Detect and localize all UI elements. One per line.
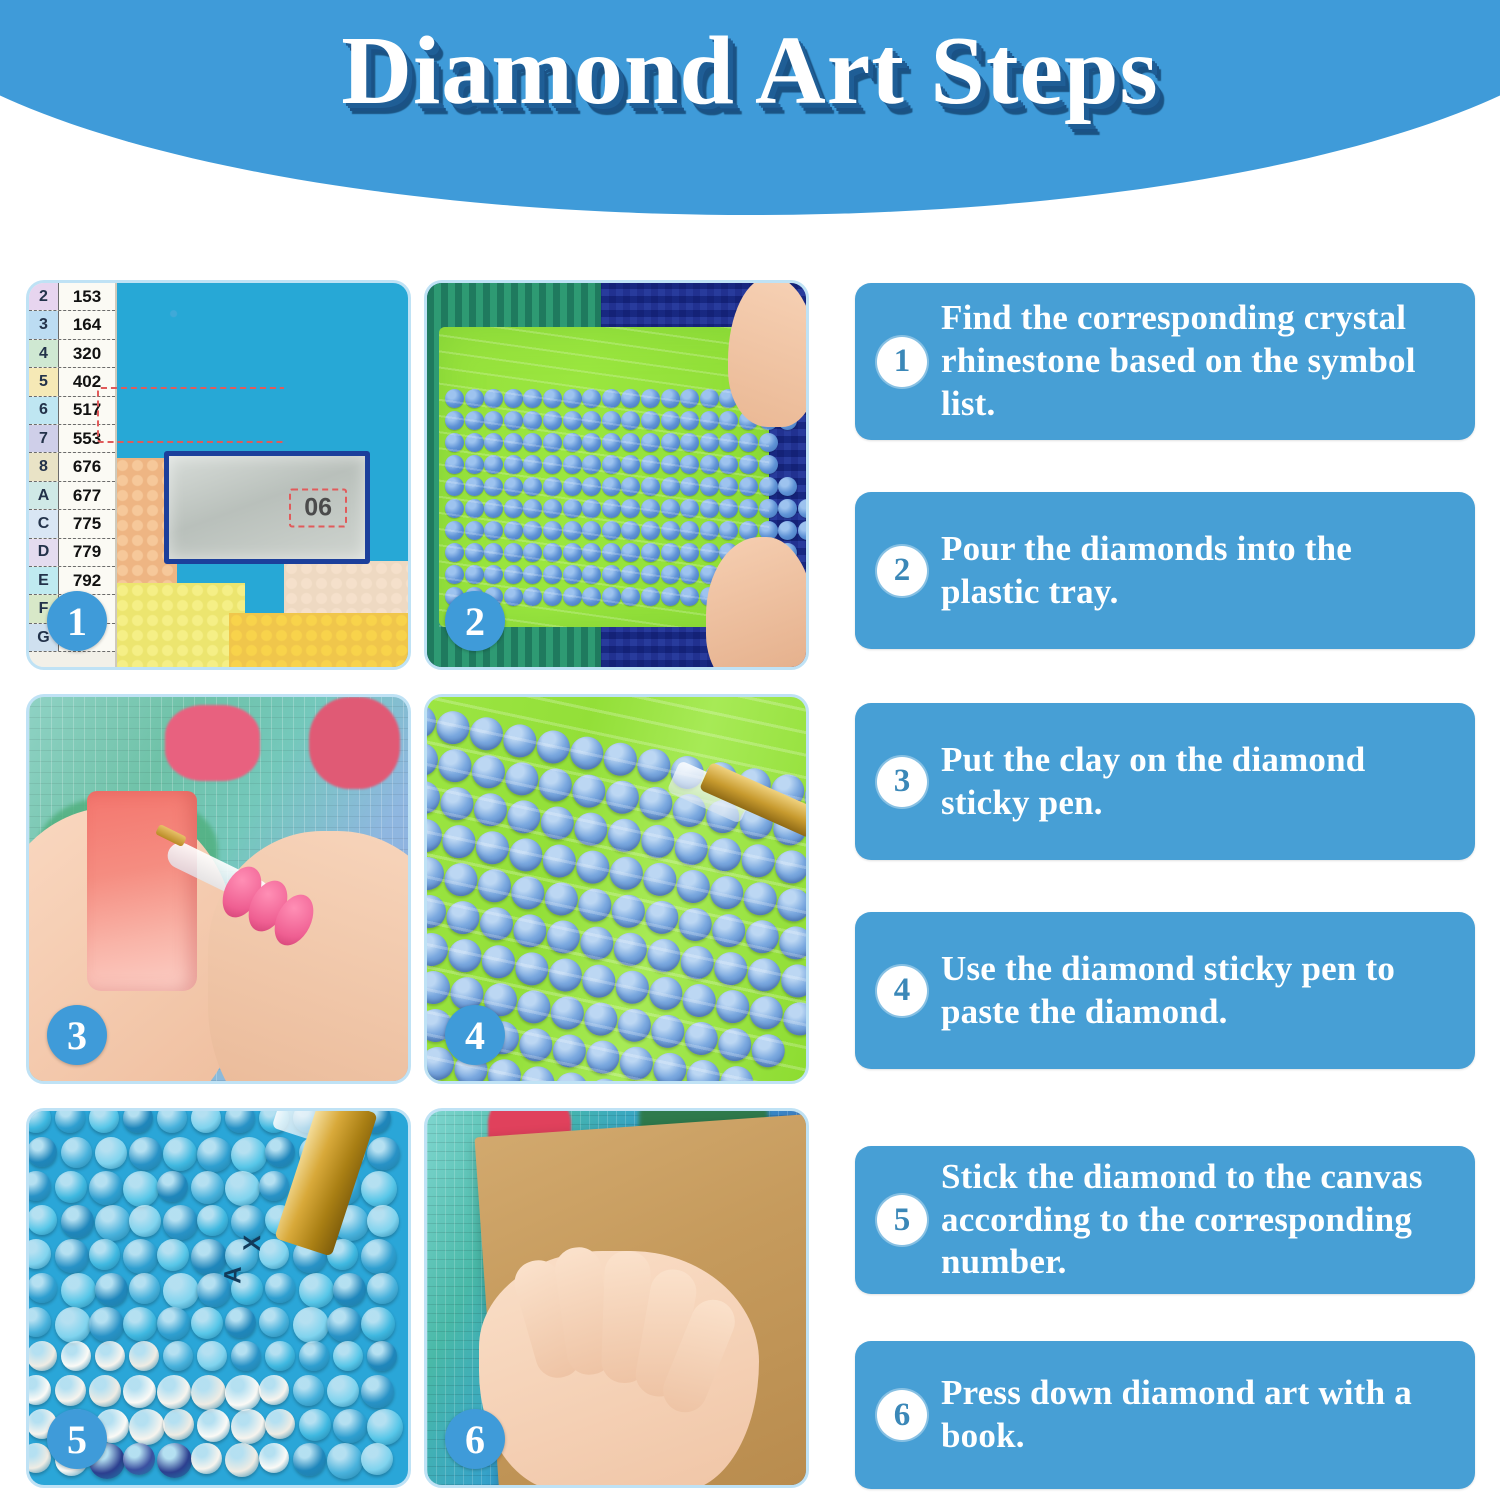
symbol-chart-row: 3164 (29, 311, 115, 339)
diamond (582, 587, 601, 606)
diamond (55, 1375, 86, 1406)
diamond (123, 1239, 158, 1274)
diamond (427, 893, 448, 930)
diamond (608, 855, 645, 892)
diamond (157, 1443, 192, 1478)
diamond (445, 389, 464, 408)
diamond (680, 565, 699, 584)
diamond (427, 817, 444, 854)
step-card-3[interactable]: 3 Put the clay on the diamond sticky pen… (855, 703, 1475, 860)
step-card-4[interactable]: 4 Use the diamond sticky pen to paste th… (855, 912, 1475, 1069)
bag-number-label: 06 (289, 488, 347, 527)
diamond (484, 565, 503, 584)
diamond (739, 477, 758, 496)
diamond (465, 411, 484, 430)
diamond (511, 912, 548, 949)
step-card-5[interactable]: 5 Stick the diamond to the canvas accord… (855, 1146, 1475, 1294)
diamond (618, 1045, 655, 1081)
step-text-3: Put the clay on the diamond sticky pen. (941, 739, 1449, 824)
diamond (572, 811, 609, 848)
diamond (123, 1171, 159, 1207)
diamond (163, 1273, 199, 1309)
diamond (259, 1307, 289, 1337)
diamond (578, 925, 615, 962)
diamond (61, 1341, 91, 1371)
diamond (197, 1205, 228, 1236)
diamond (661, 433, 680, 452)
diamond (505, 798, 542, 835)
diamond (574, 849, 611, 886)
diamond (563, 565, 582, 584)
diamond (259, 1171, 289, 1201)
diamond (543, 499, 562, 518)
diamond (95, 1273, 128, 1306)
diamond (445, 499, 464, 518)
diamond (299, 1273, 334, 1308)
diamond (719, 499, 738, 518)
diamond (680, 477, 699, 496)
diamond (299, 1341, 329, 1371)
diamond (465, 433, 484, 452)
diamond (437, 747, 474, 784)
diamond (551, 1032, 588, 1069)
diamond (476, 868, 513, 905)
diamond (708, 874, 745, 911)
diamond (191, 1443, 222, 1474)
diamond (327, 1307, 362, 1342)
diamond (779, 963, 806, 1000)
diamond (537, 766, 574, 803)
diamond (661, 521, 680, 540)
diamond (361, 1375, 394, 1408)
diamond (563, 411, 582, 430)
diamond (602, 741, 639, 778)
finger-top (728, 283, 806, 427)
diamond (333, 1409, 367, 1443)
diamond (225, 1307, 256, 1338)
diamond (718, 1064, 755, 1081)
diamond (621, 477, 640, 496)
diamond (293, 1375, 324, 1406)
symbol-chart-row: 8676 (29, 453, 115, 481)
diamond (641, 499, 660, 518)
diamond (484, 411, 503, 430)
diamond (123, 1307, 157, 1341)
diamond (265, 1137, 295, 1167)
diamond (602, 587, 621, 606)
diamond (677, 906, 714, 943)
diamond (504, 587, 523, 606)
diamond (361, 1443, 393, 1475)
diamond (361, 1239, 396, 1274)
diamond (635, 747, 672, 784)
code-cell: 676 (59, 453, 115, 480)
step-number-1: 1 (877, 337, 927, 387)
diamond (651, 1051, 688, 1081)
diamond (582, 1001, 619, 1038)
diamond (367, 1137, 400, 1170)
step-card-2[interactable]: 2 Pour the diamonds into the plastic tra… (855, 492, 1475, 649)
diamond (621, 587, 640, 606)
symbol-cell: A (29, 482, 59, 509)
canvas-gold-beads (229, 613, 408, 667)
diamond (641, 587, 660, 606)
diamond (759, 499, 778, 518)
diamond (367, 1409, 403, 1445)
diamond (700, 499, 719, 518)
diamond (231, 1409, 266, 1444)
diamond (465, 389, 484, 408)
symbol-cell: C (29, 510, 59, 537)
diamond (293, 1307, 329, 1343)
diamond-bag: 06 (164, 451, 370, 564)
symbol-chart-row: D779 (29, 539, 115, 567)
step-number-3: 3 (877, 757, 927, 807)
diamond (563, 521, 582, 540)
diamond (563, 455, 582, 474)
diamond (775, 887, 806, 924)
diamond (680, 499, 699, 518)
diamond (445, 543, 464, 562)
diamond (480, 944, 517, 981)
diamond (543, 521, 562, 540)
diamond (191, 1171, 224, 1204)
diamond (680, 389, 699, 408)
diamond (675, 868, 712, 905)
symbol-cell: 8 (29, 453, 59, 480)
symbol-cell: 2 (29, 283, 59, 310)
diamond (602, 543, 621, 562)
photo-panel-1[interactable]: 2153316443205402651775538676A677C775D779… (26, 280, 411, 670)
diamond (742, 880, 779, 917)
diamond (712, 950, 749, 987)
diamond (129, 1409, 165, 1445)
page-title: Diamond Art Steps (0, 20, 1500, 123)
diamond (427, 931, 450, 968)
diamond (509, 874, 546, 911)
diamond (333, 1273, 366, 1306)
photo-badge-2: 2 (445, 591, 505, 651)
photo-panel-3[interactable]: 3 (26, 694, 411, 1084)
diamond (443, 861, 480, 898)
diamond (547, 956, 584, 993)
diamond (465, 455, 484, 474)
diamond (706, 836, 743, 873)
diamond (157, 1375, 191, 1409)
diamond (259, 1443, 289, 1473)
diamond (661, 411, 680, 430)
diamond (543, 477, 562, 496)
diamond (582, 565, 601, 584)
diamond (543, 880, 580, 917)
step-text-5: Stick the diamond to the canvas accordin… (941, 1156, 1449, 1284)
diamond (259, 1375, 289, 1405)
diamond (612, 931, 649, 968)
photo-badge-4: 4 (445, 1005, 505, 1065)
diamond (661, 499, 680, 518)
diamond (584, 1039, 621, 1076)
photo-panel-5[interactable]: X A 5 (26, 1108, 411, 1488)
diamond (265, 1273, 295, 1303)
photo-panel-4[interactable]: 4 (424, 694, 809, 1084)
step-number-2: 2 (877, 546, 927, 596)
diamond (563, 499, 582, 518)
diamond (519, 1064, 556, 1081)
diamond (582, 521, 601, 540)
diamond (435, 709, 472, 746)
diamond (563, 389, 582, 408)
diamond (465, 477, 484, 496)
diamond (645, 937, 682, 974)
diamond (602, 433, 621, 452)
step-card-1[interactable]: 1 Find the corresponding crystal rhinest… (855, 283, 1475, 440)
diamond (680, 411, 699, 430)
code-cell: 677 (59, 482, 115, 509)
diamond (504, 477, 523, 496)
canvas-yellow-beads (115, 583, 245, 667)
diamond (641, 411, 660, 430)
diamond (89, 1239, 120, 1270)
diamond (641, 543, 660, 562)
symbol-cell: 6 (29, 397, 59, 424)
diamond (563, 433, 582, 452)
diamond (523, 587, 542, 606)
diamond (719, 477, 738, 496)
diamond (504, 499, 523, 518)
symbol-cell: 4 (29, 340, 59, 367)
diamond (447, 937, 484, 974)
diamond (523, 521, 542, 540)
diamond (553, 1070, 590, 1081)
diamond (225, 1375, 261, 1411)
diamond (474, 830, 511, 867)
symbol-cell: D (29, 539, 59, 566)
diamond (639, 823, 676, 860)
diamond (602, 389, 621, 408)
diamond (641, 389, 660, 408)
symbol-chart-row: A677 (29, 482, 115, 510)
diamond (157, 1171, 188, 1202)
symbol-cell: 3 (29, 311, 59, 338)
diamond (580, 963, 617, 1000)
diamond (501, 722, 538, 759)
diamond (367, 1273, 398, 1304)
diamond (661, 565, 680, 584)
code-cell: 164 (59, 311, 115, 338)
diamond (465, 521, 484, 540)
diamond (759, 477, 778, 496)
diamond (714, 988, 751, 1025)
diamond (680, 521, 699, 540)
diamond (700, 543, 719, 562)
diamond (710, 912, 747, 949)
step-text-1: Find the corresponding crystal rhineston… (941, 297, 1449, 425)
diamond (445, 433, 464, 452)
diamond (543, 411, 562, 430)
diamond (673, 830, 710, 867)
diamond (641, 861, 678, 898)
diamond (719, 455, 738, 474)
canvas-symbol-a: A (219, 1266, 248, 1284)
diamond (602, 499, 621, 518)
diamond (427, 779, 442, 816)
diamond (61, 1273, 96, 1308)
diamond (484, 499, 503, 518)
diamond (95, 1341, 125, 1371)
diamond (614, 969, 651, 1006)
diamond (55, 1239, 89, 1273)
diamond (484, 389, 503, 408)
symbol-cell: 5 (29, 368, 59, 395)
diamond (504, 543, 523, 562)
diamond (744, 918, 781, 955)
diamond (157, 1239, 189, 1271)
diamond (621, 543, 640, 562)
diamond (327, 1443, 363, 1479)
diamond (740, 842, 777, 879)
diamond (586, 1077, 623, 1081)
diamond (539, 804, 576, 841)
diamond (716, 1026, 753, 1063)
canvas-pink-flower-2 (309, 697, 400, 789)
diamond (535, 728, 572, 765)
diamond (568, 735, 605, 772)
diamond (445, 455, 464, 474)
diamond (484, 455, 503, 474)
diamond (129, 1341, 159, 1371)
photo-badge-5: 5 (47, 1409, 107, 1469)
photo-badge-3: 3 (47, 1005, 107, 1065)
diamond (739, 455, 758, 474)
diamond (661, 587, 680, 606)
diamond (367, 1341, 397, 1371)
diamond (621, 499, 640, 518)
diamond (616, 1007, 653, 1044)
diamond (641, 477, 660, 496)
canvas-symbol-x: X (239, 1235, 268, 1252)
symbol-cell: E (29, 567, 59, 594)
diamond (681, 982, 718, 1019)
diamond (641, 455, 660, 474)
diamond (513, 950, 550, 987)
diamond (55, 1307, 91, 1343)
diamond (748, 994, 785, 1031)
diamond (504, 565, 523, 584)
diamond (439, 785, 476, 822)
photo-panel-6[interactable]: 6 (424, 1108, 809, 1488)
diamond (746, 956, 783, 993)
diamond (523, 499, 542, 518)
diamond (661, 543, 680, 562)
diamond (293, 1443, 326, 1476)
diamond (602, 411, 621, 430)
diamond (427, 969, 452, 1006)
diamond (191, 1307, 223, 1339)
diamond (582, 433, 601, 452)
diamond (700, 389, 719, 408)
diamond (61, 1205, 94, 1238)
diamond (445, 477, 464, 496)
diamond (621, 433, 640, 452)
diamond (661, 455, 680, 474)
diamond (621, 565, 640, 584)
diamond (157, 1307, 190, 1340)
diamond (507, 836, 544, 873)
diamond (441, 823, 478, 860)
photo-badge-1: 1 (47, 591, 107, 651)
diamond (602, 455, 621, 474)
diamond (777, 925, 806, 962)
step-card-6[interactable]: 6 Press down diamond art with a book. (855, 1341, 1475, 1489)
diamond (478, 906, 515, 943)
step-text-4: Use the diamond sticky pen to paste the … (941, 948, 1449, 1033)
diamond (472, 792, 509, 829)
diamond (484, 477, 503, 496)
diamond (504, 455, 523, 474)
diamond (523, 389, 542, 408)
diamond (484, 521, 503, 540)
diamond (680, 543, 699, 562)
diamond (781, 1001, 806, 1038)
diamond (445, 899, 482, 936)
diamond (89, 1375, 121, 1407)
diamond (773, 849, 806, 886)
diamond (231, 1341, 261, 1371)
diamond (427, 703, 438, 740)
diamond (582, 477, 601, 496)
diamond (604, 779, 641, 816)
diamond (549, 994, 586, 1031)
diamond (700, 477, 719, 496)
diamond (563, 543, 582, 562)
diamond (361, 1171, 397, 1207)
diamond (563, 587, 582, 606)
symbol-chart-row: 4320 (29, 340, 115, 368)
photo-panel-2[interactable]: 2 (424, 280, 809, 670)
diamond (504, 389, 523, 408)
diamond (333, 1341, 363, 1371)
diamond (197, 1341, 227, 1371)
diamond (570, 773, 607, 810)
diamond (361, 1307, 395, 1341)
diamond (197, 1137, 232, 1172)
diamond (719, 521, 738, 540)
diamond (576, 887, 613, 924)
diamond (465, 499, 484, 518)
diamond (265, 1409, 295, 1439)
diamond (647, 975, 684, 1012)
diamond (484, 543, 503, 562)
diamond (129, 1205, 161, 1237)
diamond (602, 477, 621, 496)
diamond (545, 918, 582, 955)
diamond (515, 988, 552, 1025)
diamond (484, 433, 503, 452)
diamond (163, 1341, 193, 1371)
diamond (517, 1026, 554, 1063)
diamond (427, 855, 446, 892)
diamond (129, 1137, 162, 1170)
diamond (89, 1307, 124, 1342)
diamond (582, 411, 601, 430)
diamond (55, 1171, 87, 1203)
diamond (95, 1137, 127, 1169)
code-cell: 775 (59, 510, 115, 537)
diamond (163, 1409, 194, 1440)
diamond (327, 1375, 359, 1407)
diamond (299, 1409, 331, 1441)
code-cell: 320 (59, 340, 115, 367)
